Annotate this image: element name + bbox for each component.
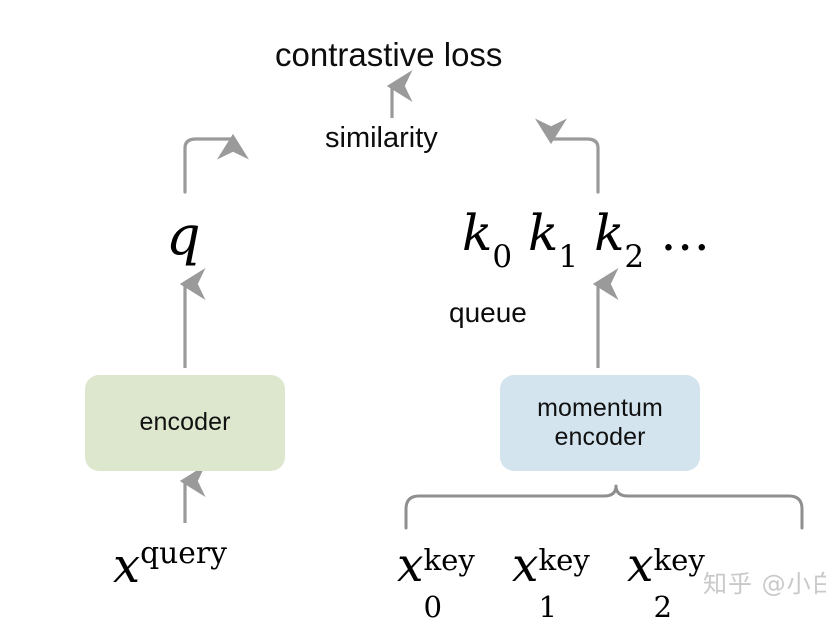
x-key0-base: x: [397, 538, 424, 593]
diagram-canvas: contrastive loss similarity queue q k0k1…: [0, 0, 826, 634]
x-key-symbols-row: xkey0xkey1xkey2: [397, 538, 742, 593]
x-key2-base: x: [627, 538, 654, 593]
arrow-q-to-similarity: [185, 139, 233, 192]
x-query-symbol: xquery: [113, 538, 227, 594]
x-key0-subscript: 0: [424, 590, 443, 624]
momentum-encoder-node[interactable]: momentum encoder: [500, 375, 700, 471]
x-key1-base: x: [512, 538, 539, 593]
brace-keys-to-momentum-encoder: [406, 486, 802, 528]
x-key1-symbol: xkey1: [512, 538, 607, 593]
encoder-label: encoder: [139, 408, 230, 438]
x-key1-subscript: 1: [539, 590, 558, 624]
k1-subscript: 1: [558, 239, 578, 275]
k1-symbol: k1: [528, 204, 578, 262]
similarity-label: similarity: [325, 122, 438, 155]
q-symbol: q: [166, 204, 201, 267]
x-query-base: x: [113, 538, 140, 594]
k0-subscript: 0: [492, 239, 512, 275]
contrastive-loss-label: contrastive loss: [275, 36, 502, 74]
queue-label: queue: [449, 297, 527, 329]
arrow-keys-to-similarity: [551, 139, 598, 192]
k1-base: k: [528, 204, 558, 262]
k2-base: k: [594, 204, 624, 262]
x-key2-subscript: 2: [653, 590, 672, 624]
q-glyph: q: [166, 204, 201, 267]
key-symbols-row: k0k1k2…: [462, 204, 710, 269]
k0-symbol: k0: [462, 204, 512, 262]
encoder-node[interactable]: encoder: [85, 375, 285, 471]
k2-subscript: 2: [624, 239, 644, 275]
x-query-superscript: query: [140, 536, 227, 571]
k-ellipsis: …: [660, 204, 710, 262]
watermark: 知乎 @小白: [703, 564, 826, 599]
x-key1-superscript: key: [539, 543, 590, 577]
k2-symbol: k2: [594, 204, 644, 262]
x-key0-superscript: key: [424, 543, 475, 577]
x-key0-symbol: xkey0: [397, 538, 492, 593]
k0-base: k: [462, 204, 492, 262]
x-key2-superscript: key: [653, 543, 704, 577]
momentum-encoder-label-line1: momentum: [537, 394, 663, 424]
momentum-encoder-label-line2: encoder: [537, 423, 663, 453]
